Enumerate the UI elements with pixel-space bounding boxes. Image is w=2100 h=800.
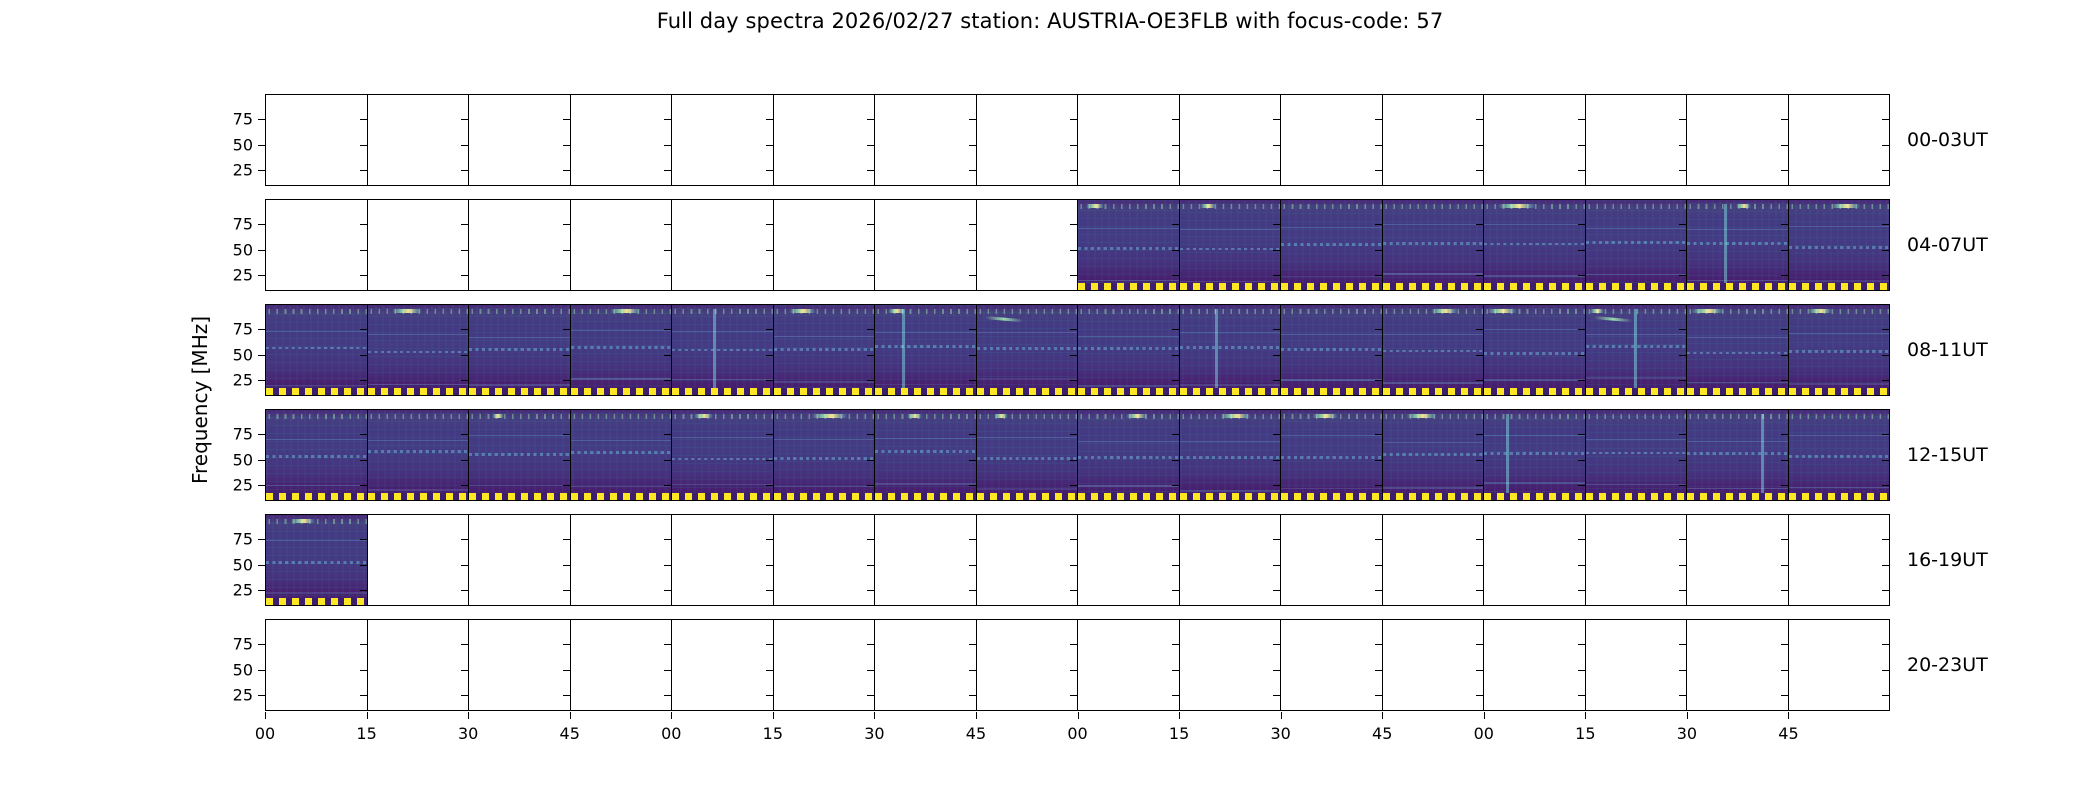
spectrogram-panel[interactable] [1789,410,1890,500]
spectrogram-image [774,305,875,395]
panel-y-tick [461,170,468,171]
x-axis-tick [1484,712,1485,719]
panel-y-tick [766,485,773,486]
panel-y-tick [1070,539,1077,540]
spectrogram-panel[interactable] [368,305,470,395]
panel-y-tick [1476,670,1483,671]
spectrogram-panel[interactable] [1789,305,1890,395]
spectrogram-panel[interactable] [266,410,368,500]
spectrogram-image [1281,305,1382,395]
marker-strip [1281,388,1382,395]
spectrogram-panel[interactable] [1586,95,1688,185]
panel-y-tick [1578,434,1585,435]
panel-y-tick [1882,670,1889,671]
marker-strip [672,493,773,500]
spectrogram-panel[interactable] [1383,200,1485,290]
spectrogram-panel[interactable] [774,410,876,500]
panel-y-tick [1375,355,1382,356]
marker-strip [1789,493,1890,500]
spectrogram-panel[interactable] [571,620,673,710]
spectrogram-image [1687,200,1788,290]
figure-title: Full day spectra 2026/02/27 station: AUS… [0,9,2100,33]
panel-y-tick [867,275,874,276]
spectrogram-panel[interactable] [774,305,876,395]
x-axis: 00153045001530450015304500153045 [265,712,1890,713]
panel-y-tick [563,170,570,171]
spectrogram-panel[interactable] [1078,95,1180,185]
x-axis-tick [570,712,571,719]
panel-y-tick [563,250,570,251]
marker-strip [1484,388,1585,395]
panel-y-tick [1882,590,1889,591]
panel-y-tick [1273,695,1280,696]
spectrogram-image [1687,410,1788,500]
panel-y-tick [766,565,773,566]
panel-y-tick [563,119,570,120]
panel-y-tick [1679,485,1686,486]
spectrogram-image [1180,410,1281,500]
panel-y-tick [1070,434,1077,435]
panel-y-tick [1273,145,1280,146]
panel-y-tick [1882,485,1889,486]
spectrogram-panel[interactable] [875,620,977,710]
spectrogram-panel[interactable] [571,410,673,500]
panel-y-tick [461,250,468,251]
panel-y-tick [360,119,367,120]
spectrogram-panel[interactable] [1180,305,1282,395]
panel-y-tick [867,644,874,645]
panel-y-tick [1375,644,1382,645]
panel-y-tick [1476,590,1483,591]
x-axis-tick-label: 45 [966,724,986,743]
panel-y-tick [664,590,671,591]
spectrogram-image [1180,305,1281,395]
x-axis-tick-label: 15 [1575,724,1595,743]
panel-y-tick [461,670,468,671]
marker-strip [672,388,773,395]
y-axis-tick-label: 25 [233,371,253,390]
spectrogram-panel[interactable] [1687,305,1789,395]
panel-y-tick [1476,275,1483,276]
spectrogram-panel[interactable] [1383,515,1485,605]
panel-y-tick [1172,224,1179,225]
spectrogram-panel[interactable] [1687,200,1789,290]
spectrogram-panel[interactable] [774,515,876,605]
panel-y-tick [1375,485,1382,486]
panel-group [266,410,1889,500]
panel-y-tick [1578,539,1585,540]
spectrogram-panel[interactable] [977,620,1079,710]
panel-y-tick [664,119,671,120]
marker-strip [266,598,367,605]
panel-group [266,305,1889,395]
spectrogram-panel[interactable] [1484,410,1586,500]
spectrogram-row[interactable]: 755025 [265,304,1890,396]
spectrogram-image [1281,410,1382,500]
y-axis-tick [258,119,266,120]
panel-y-tick [664,224,671,225]
panel-y-tick [1476,380,1483,381]
y-axis-tick-label: 50 [233,240,253,259]
spectrogram-image [1586,305,1687,395]
spectrogram-panel[interactable] [1078,515,1180,605]
panel-y-tick [766,224,773,225]
panel-y-tick [1375,380,1382,381]
panel-y-tick [1781,670,1788,671]
spectrogram-panel[interactable] [469,410,571,500]
panel-y-tick [867,329,874,330]
spectrogram-panel[interactable] [1789,200,1890,290]
panel-y-tick [766,329,773,330]
panel-y-tick [766,275,773,276]
y-axis-tick-label: 50 [233,660,253,679]
spectrogram-panel[interactable] [1180,95,1282,185]
y-axis-tick [258,539,266,540]
spectrogram-panel[interactable] [571,515,673,605]
panel-y-tick [867,380,874,381]
spectrogram-image [1078,200,1179,290]
panel-y-tick [1273,170,1280,171]
panel-y-tick [360,380,367,381]
panel-y-tick [766,695,773,696]
panel-y-tick [1273,670,1280,671]
marker-strip [774,493,875,500]
spectrogram-panel[interactable] [672,620,774,710]
spectrogram-panel[interactable] [1180,620,1282,710]
row-time-label: 12-15UT [1907,444,1988,466]
spectrogram-panel[interactable] [1687,620,1789,710]
marker-strip [1484,283,1585,290]
panel-y-tick [664,460,671,461]
spectrogram-panel[interactable] [469,305,571,395]
y-axis-tick [258,565,266,566]
spectrogram-image [875,305,976,395]
spectrogram-panel[interactable] [266,620,368,710]
spectrogram-panel[interactable] [1281,410,1383,500]
panel-y-tick [1882,224,1889,225]
panel-y-tick [1679,590,1686,591]
panel-y-tick [1070,119,1077,120]
spectrogram-row[interactable]: 755025 [265,199,1890,291]
marker-strip [1586,283,1687,290]
spectrogram-panel[interactable] [266,305,368,395]
panel-y-tick [1882,119,1889,120]
spectrogram-image [774,410,875,500]
marker-strip [266,493,367,500]
panel-y-tick [1679,329,1686,330]
panel-y-tick [1172,170,1179,171]
spectrogram-panel[interactable] [368,620,470,710]
spectrogram-panel[interactable] [1687,410,1789,500]
spectrogram-panel[interactable] [1383,410,1485,500]
spectrogram-row[interactable]: 755025 [265,409,1890,501]
panel-y-tick [1375,275,1382,276]
x-axis-tick [265,712,266,719]
y-axis-tick-label: 75 [233,424,253,443]
panel-y-tick [461,434,468,435]
spectrogram-panel[interactable] [469,95,571,185]
panel-y-tick [969,145,976,146]
y-axis-tick-label: 25 [233,476,253,495]
y-axis-tick-label: 50 [233,555,253,574]
spectrogram-panel[interactable] [571,305,673,395]
x-axis-tick-label: 45 [1372,724,1392,743]
marker-strip [977,493,1078,500]
panel-y-tick [766,644,773,645]
panel-y-tick [867,565,874,566]
panel-y-tick [969,380,976,381]
spectrogram-panel[interactable] [1180,200,1282,290]
spectrogram-panel[interactable] [1383,95,1485,185]
spectrogram-image [1484,200,1585,290]
panel-y-tick [1476,250,1483,251]
spectrogram-panel[interactable] [1586,620,1688,710]
panel-y-tick [1375,670,1382,671]
spectrogram-panel[interactable] [1180,515,1282,605]
panel-y-tick [461,224,468,225]
spectrogram-panel[interactable] [774,200,876,290]
spectrogram-panel[interactable] [368,200,470,290]
panel-y-tick [1375,590,1382,591]
panel-y-tick [1679,539,1686,540]
marker-strip [1180,493,1281,500]
panel-y-tick [1578,275,1585,276]
panel-y-tick [1375,170,1382,171]
marker-strip [774,388,875,395]
panel-y-tick [1882,539,1889,540]
panel-y-tick [1679,145,1686,146]
y-axis-tick-label: 75 [233,109,253,128]
panel-y-tick [1578,170,1585,171]
spectrogram-panel[interactable] [672,305,774,395]
spectrogram-panel[interactable] [368,515,470,605]
marker-strip [1687,283,1788,290]
panel-y-tick [969,485,976,486]
spectrogram-panel[interactable] [1484,200,1586,290]
spectrogram-panel[interactable] [672,95,774,185]
panel-y-tick [1476,460,1483,461]
spectrogram-panel[interactable] [266,95,368,185]
spectrogram-panel[interactable] [1586,305,1688,395]
y-axis-tick-label: 75 [233,634,253,653]
spectrogram-panel[interactable] [571,200,673,290]
spectrogram-panel[interactable] [1383,305,1485,395]
panel-y-tick [1476,329,1483,330]
spectrogram-panel[interactable] [1586,410,1688,500]
panel-y-tick [1781,355,1788,356]
panel-y-tick [1070,250,1077,251]
panel-y-tick [563,485,570,486]
spectrogram-panel[interactable] [469,200,571,290]
spectrogram-panel[interactable] [1281,620,1383,710]
x-axis-tick-label: 30 [864,724,884,743]
spectrogram-panel[interactable] [368,410,470,500]
spectrogram-image [1789,305,1890,395]
y-axis-tick [258,644,266,645]
spectrogram-panel[interactable] [1586,515,1688,605]
panel-y-tick [563,670,570,671]
panel-y-tick [360,670,367,671]
spectrogram-panel[interactable] [774,95,876,185]
y-axis-tick [258,145,266,146]
panel-y-tick [1172,355,1179,356]
spectrogram-row[interactable]: 755025 [265,619,1890,711]
panel-y-tick [867,670,874,671]
panel-y-tick [461,145,468,146]
panel-y-tick [1172,695,1179,696]
panel-y-tick [664,565,671,566]
x-axis-tick [468,712,469,719]
spectrogram-row[interactable]: 755025 [265,514,1890,606]
panel-y-tick [1172,644,1179,645]
panel-y-tick [563,355,570,356]
panel-y-tick [1781,434,1788,435]
spectrogram-panel[interactable] [266,515,368,605]
spectrogram-panel[interactable] [774,620,876,710]
spectrogram-panel[interactable] [1281,200,1383,290]
spectrogram-panel[interactable] [266,200,368,290]
spectrogram-panel[interactable] [469,620,571,710]
spectrogram-panel[interactable] [1484,515,1586,605]
panel-y-tick [461,695,468,696]
spectrogram-panel[interactable] [1789,95,1890,185]
spectrogram-panel[interactable] [1789,620,1890,710]
spectrogram-panel[interactable] [368,95,470,185]
spectrogram-panel[interactable] [875,305,977,395]
panel-y-tick [867,460,874,461]
panel-y-tick [969,170,976,171]
spectrogram-panel[interactable] [1484,95,1586,185]
panel-y-tick [1172,275,1179,276]
panel-y-tick [1273,485,1280,486]
x-axis-tick-label: 00 [255,724,275,743]
y-axis-tick-label: 50 [233,135,253,154]
panel-y-tick [766,434,773,435]
marker-strip [1180,388,1281,395]
panel-y-tick [1781,590,1788,591]
spectrogram-image [977,410,1078,500]
marker-strip [1687,388,1788,395]
panel-y-tick [664,644,671,645]
panel-y-tick [664,145,671,146]
spectrogram-panel[interactable] [571,95,673,185]
y-axis-tick [258,355,266,356]
spectrogram-image [469,305,570,395]
spectrogram-panel[interactable] [977,410,1079,500]
spectrogram-panel[interactable] [1078,410,1180,500]
panel-y-tick [360,644,367,645]
spectrogram-panel[interactable] [1078,200,1180,290]
spectrogram-panel[interactable] [1687,515,1789,605]
panel-y-tick [664,695,671,696]
panel-y-tick [1070,485,1077,486]
panel-y-tick [1476,119,1483,120]
spectrogram-panel[interactable] [1180,410,1282,500]
panel-y-tick [1070,695,1077,696]
panel-y-tick [1172,145,1179,146]
panel-y-tick [867,224,874,225]
spectrogram-panel[interactable] [977,305,1079,395]
spectrogram-panel[interactable] [875,515,977,605]
spectrogram-panel[interactable] [977,200,1079,290]
panel-y-tick [1375,434,1382,435]
marker-strip [1586,388,1687,395]
spectrogram-panel[interactable] [875,410,977,500]
panel-y-tick [969,329,976,330]
panel-y-tick [563,329,570,330]
spectrogram-panel[interactable] [875,95,977,185]
spectrogram-panel[interactable] [977,515,1079,605]
panel-y-tick [969,275,976,276]
panel-y-tick [867,355,874,356]
spectrogram-image [571,410,672,500]
spectrogram-row[interactable]: 755025 [265,94,1890,186]
panel-y-tick [969,644,976,645]
panel-y-tick [1172,434,1179,435]
panel-y-tick [1781,565,1788,566]
spectrogram-panel[interactable] [1281,95,1383,185]
x-axis-tick-label: 30 [1677,724,1697,743]
spectrogram-panel[interactable] [1789,515,1890,605]
panel-y-tick [1476,145,1483,146]
panel-y-tick [1882,695,1889,696]
spectrogram-panel[interactable] [672,200,774,290]
panel-y-tick [1172,119,1179,120]
panel-y-tick [1273,590,1280,591]
panel-y-tick [1476,355,1483,356]
panel-y-tick [360,275,367,276]
spectrogram-panel[interactable] [1078,620,1180,710]
spectrogram-panel[interactable] [1687,95,1789,185]
spectrogram-panel[interactable] [672,515,774,605]
x-axis-tick-label: 15 [356,724,376,743]
y-axis-tick [258,275,266,276]
panel-y-tick [360,355,367,356]
panel-y-tick [1070,565,1077,566]
spectrogram-panel[interactable] [1281,515,1383,605]
panel-y-tick [1476,170,1483,171]
panel-y-tick [1273,539,1280,540]
spectrogram-panel[interactable] [1484,620,1586,710]
spectrogram-image [1383,410,1484,500]
spectrogram-image [1281,200,1382,290]
panel-y-tick [969,590,976,591]
spectrogram-panel[interactable] [1586,200,1688,290]
spectrogram-panel[interactable] [1078,305,1180,395]
panel-y-tick [1375,460,1382,461]
x-axis-tick [874,712,875,719]
spectrogram-panel[interactable] [672,410,774,500]
spectrogram-panel[interactable] [1484,305,1586,395]
spectrogram-panel[interactable] [875,200,977,290]
panel-y-tick [1172,565,1179,566]
spectrogram-image [368,305,469,395]
spectrogram-panel[interactable] [1383,620,1485,710]
spectrogram-panel[interactable] [977,95,1079,185]
y-axis-tick [258,250,266,251]
spectrogram-panel[interactable] [1281,305,1383,395]
panel-y-tick [766,355,773,356]
panel-y-tick [664,355,671,356]
x-axis-tick [367,712,368,719]
y-axis-tick [258,485,266,486]
panel-y-tick [969,250,976,251]
panel-y-tick [563,224,570,225]
panel-y-tick [461,460,468,461]
spectrogram-panel[interactable] [469,515,571,605]
panel-y-tick [1679,565,1686,566]
marker-strip [1281,493,1382,500]
